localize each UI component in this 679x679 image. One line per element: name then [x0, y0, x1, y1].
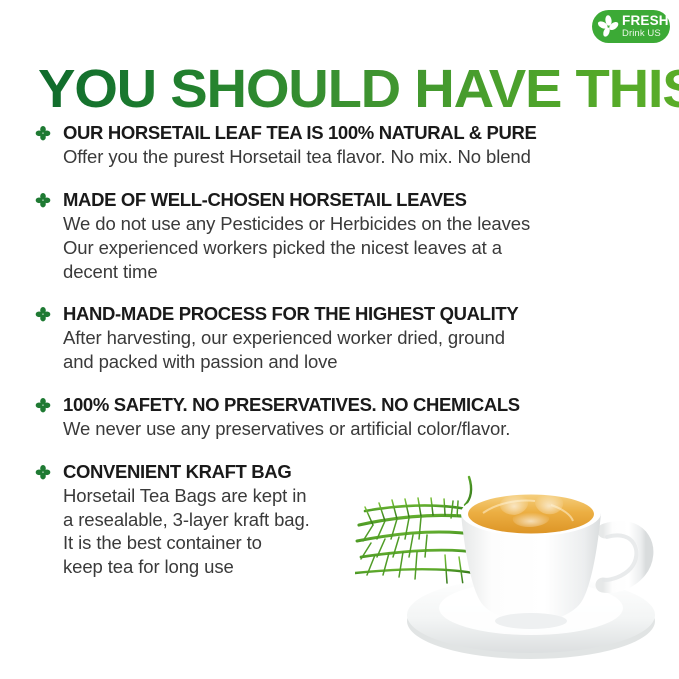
clover-bullet-icon	[34, 191, 52, 209]
cup-foot	[495, 613, 567, 629]
list-item-body-line: Offer you the purest Horsetail tea flavo…	[63, 145, 634, 169]
list-item-body: We do not use any Pesticides or Herbicid…	[63, 212, 634, 283]
page-headline: YOU SHOULD HAVE THIS!	[38, 58, 679, 120]
list-item-body-line: decent time	[63, 260, 634, 284]
list-item-body-line: Our experienced workers picked the nices…	[63, 236, 634, 260]
teacup-with-horsetail-herb-photo	[355, 455, 679, 679]
logo-brand-line: FRESH	[622, 14, 669, 28]
list-item: HAND-MADE PROCESS FOR THE HIGHEST QUALIT…	[34, 303, 634, 374]
list-item: OUR HORSETAIL LEAF TEA IS 100% NATURAL &…	[34, 122, 634, 169]
logo-text-group: FRESH Drink US	[622, 14, 669, 39]
list-item-body-line: and packed with passion and love	[63, 350, 634, 374]
list-item-body: After harvesting, our experienced worker…	[63, 326, 634, 373]
list-item-title: 100% SAFETY. NO PRESERVATIVES. NO CHEMIC…	[63, 394, 634, 415]
list-item-body-line: We never use any preservatives or artifi…	[63, 417, 634, 441]
list-item-title: HAND-MADE PROCESS FOR THE HIGHEST QUALIT…	[63, 303, 634, 324]
list-item-body: We never use any preservatives or artifi…	[63, 417, 634, 441]
list-item-title: OUR HORSETAIL LEAF TEA IS 100% NATURAL &…	[63, 122, 634, 143]
clover-bullet-icon	[34, 396, 52, 414]
clover-bullet-icon	[34, 305, 52, 323]
leaf-icon	[596, 14, 621, 39]
list-item-title: MADE OF WELL-CHOSEN HORSETAIL LEAVES	[63, 189, 634, 210]
logo-sub-line: Drink US	[622, 29, 669, 39]
clover-bullet-icon	[34, 124, 52, 142]
brand-logo-badge: FRESH Drink US	[592, 10, 670, 43]
horsetail-herb-sprigs	[355, 477, 481, 587]
list-item-body-line: After harvesting, our experienced worker…	[63, 326, 634, 350]
list-item-body-line: We do not use any Pesticides or Herbicid…	[63, 212, 634, 236]
list-item-body: Offer you the purest Horsetail tea flavo…	[63, 145, 634, 169]
list-item: MADE OF WELL-CHOSEN HORSETAIL LEAVES We …	[34, 189, 634, 283]
clover-bullet-icon	[34, 463, 52, 481]
list-item: 100% SAFETY. NO PRESERVATIVES. NO CHEMIC…	[34, 394, 634, 441]
